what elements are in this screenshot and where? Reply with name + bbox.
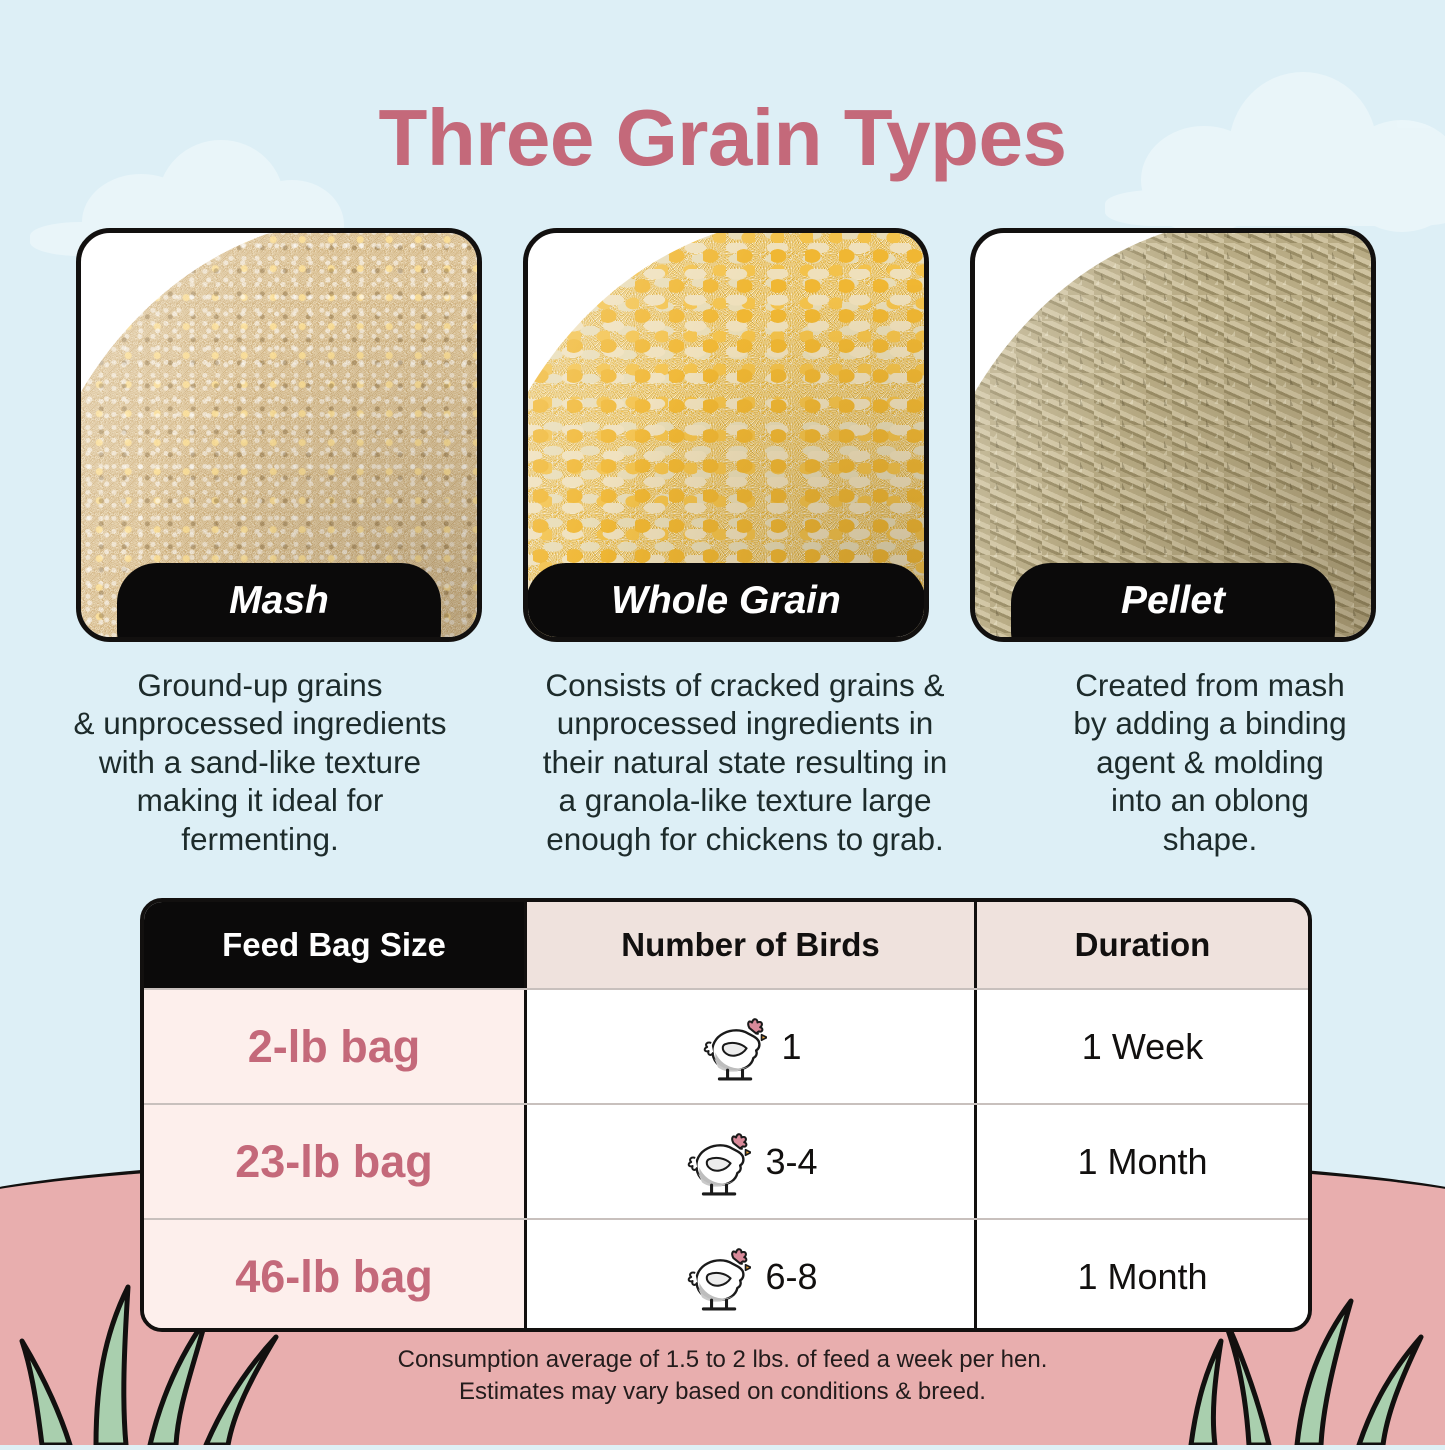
cell-bag-size: 2-lb bag bbox=[144, 990, 524, 1103]
cell-number-of-birds: 1 bbox=[524, 990, 974, 1103]
footnote-line-2: Estimates may vary based on conditions &… bbox=[0, 1376, 1445, 1408]
cell-bag-size: 23-lb bag bbox=[144, 1105, 524, 1218]
grain-description-whole-grain: Consists of cracked grains & unprocessed… bbox=[510, 666, 980, 858]
grain-label-whole-grain: Whole Grain bbox=[526, 563, 926, 642]
grain-description-row: Ground-up grains & unprocessed ingredien… bbox=[40, 666, 1410, 858]
column-header-number-of-birds: Number of Birds bbox=[524, 902, 974, 988]
cell-number-of-birds: 3-4 bbox=[524, 1105, 974, 1218]
column-header-feed-bag-size: Feed Bag Size bbox=[144, 902, 524, 988]
bird-count: 6-8 bbox=[765, 1256, 817, 1298]
bird-count: 1 bbox=[781, 1026, 801, 1068]
bird-count: 3-4 bbox=[765, 1141, 817, 1183]
chicken-icon bbox=[699, 1011, 767, 1083]
cell-duration: 1 Month bbox=[974, 1105, 1308, 1218]
grain-card-pellet[interactable]: Pellet bbox=[970, 228, 1376, 642]
table-row: 46-lb bag 6-8 1 Month bbox=[144, 1218, 1308, 1332]
footnote-line-1: Consumption average of 1.5 to 2 lbs. of … bbox=[0, 1344, 1445, 1376]
grain-label-mash: Mash bbox=[117, 563, 441, 642]
grain-label-pellet: Pellet bbox=[1011, 563, 1335, 642]
grain-card-whole-grain[interactable]: Whole Grain bbox=[523, 228, 929, 642]
feed-bag-table: Feed Bag Size Number of Birds Duration 2… bbox=[140, 898, 1312, 1332]
grain-card-mash[interactable]: Mash bbox=[76, 228, 482, 642]
footnote: Consumption average of 1.5 to 2 lbs. of … bbox=[0, 1344, 1445, 1407]
table-row: 2-lb bag 1 1 Week bbox=[144, 988, 1308, 1103]
cell-number-of-birds: 6-8 bbox=[524, 1220, 974, 1332]
grain-card-row: Mash Whole Grain Pellet bbox=[76, 228, 1376, 632]
cell-duration: 1 Month bbox=[974, 1220, 1308, 1332]
grain-description-pellet: Created from mash by adding a binding ag… bbox=[1010, 666, 1410, 858]
column-header-duration: Duration bbox=[974, 902, 1308, 988]
cell-duration: 1 Week bbox=[974, 990, 1308, 1103]
page-title: Three Grain Types bbox=[0, 92, 1445, 184]
table-header-row: Feed Bag Size Number of Birds Duration bbox=[144, 902, 1308, 988]
grain-description-mash: Ground-up grains & unprocessed ingredien… bbox=[40, 666, 480, 858]
cell-bag-size: 46-lb bag bbox=[144, 1220, 524, 1332]
chicken-icon bbox=[683, 1126, 751, 1198]
chicken-icon bbox=[683, 1241, 751, 1313]
table-row: 23-lb bag 3-4 1 Month bbox=[144, 1103, 1308, 1218]
